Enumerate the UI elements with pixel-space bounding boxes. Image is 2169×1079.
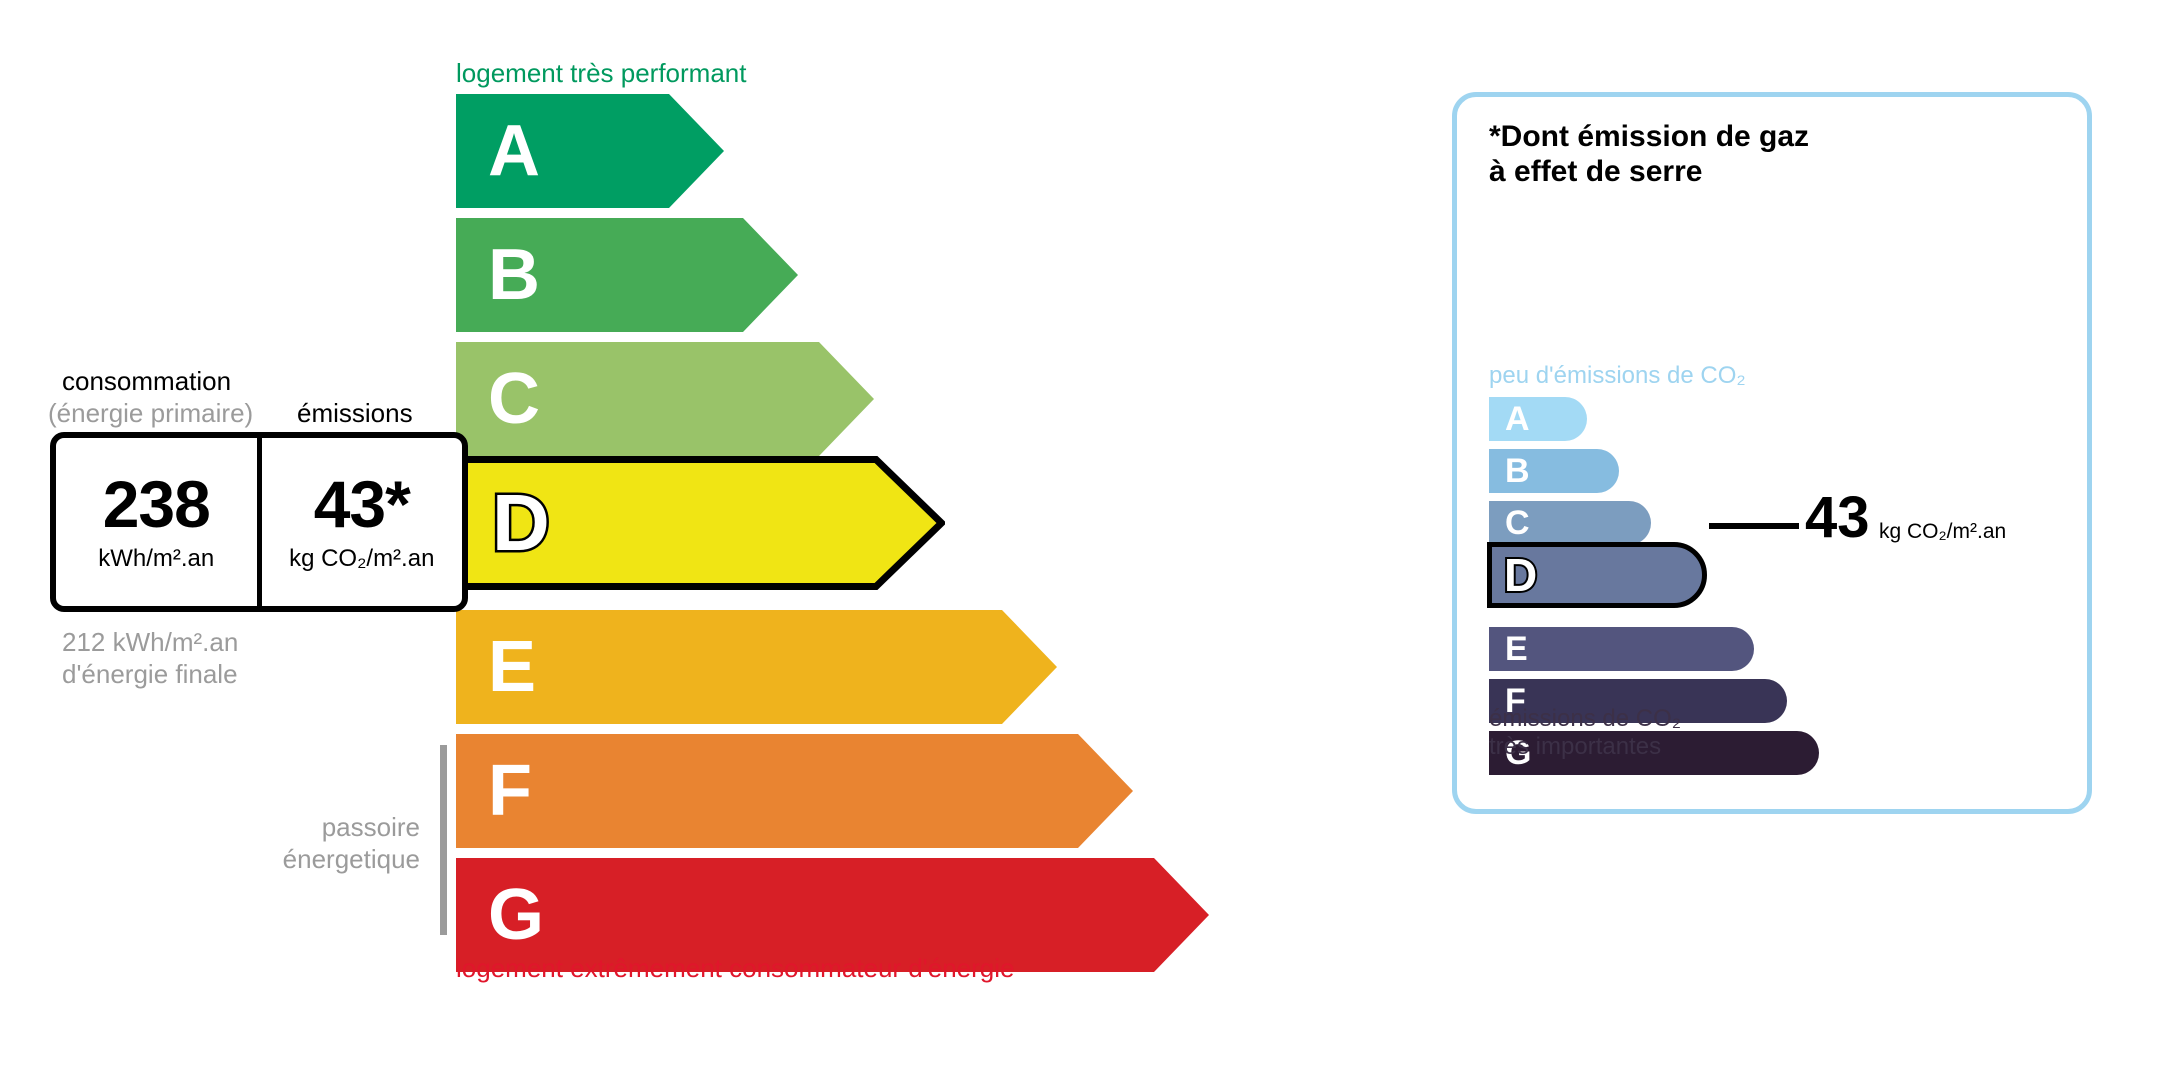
passoire-energetique-marker (440, 745, 447, 935)
chart-top-caption: logement très performant (456, 58, 746, 89)
co2-bar-letter-c: C (1505, 506, 1530, 540)
co2-bar-letter-e: E (1505, 632, 1528, 666)
emission-cell: 43* kg CO₂/m².an (257, 438, 463, 606)
co2-leader-line (1709, 523, 1799, 529)
energy-band-letter-g: G (488, 879, 544, 951)
energy-performance-chart: logement très performant ABCDEFG logemen… (0, 0, 1300, 1079)
co2-bar-b: B (1489, 449, 1619, 493)
passoire-label-line1: passoire (180, 812, 420, 843)
co2-top-caption: peu d'émissions de CO₂ (1489, 362, 1746, 390)
energy-band-letter-b: B (488, 239, 540, 311)
chart-bottom-caption: logement extrêmement consommateur d'éner… (456, 953, 1014, 984)
energy-band-c: C (456, 342, 874, 456)
energy-band-letter-a: A (488, 115, 540, 187)
energy-band-arrow-e (456, 610, 1057, 724)
co2-value-unit: kg CO₂/m².an (1879, 521, 2006, 542)
co2-bar-e: E (1489, 627, 1754, 671)
energy-band-letter-e: E (488, 631, 536, 703)
consumption-label: consommation (62, 366, 231, 397)
co2-panel-title: *Dont émission de gaz à effet de serre (1489, 119, 1809, 190)
co2-bar-d: D (1487, 542, 1707, 608)
energy-band-letter-c: C (488, 363, 540, 435)
consumption-unit: kWh/m².an (98, 545, 214, 573)
consumption-cell: 238 kWh/m².an (56, 438, 257, 606)
energy-band-letter-f: F (488, 755, 532, 827)
co2-bar-letter-a: A (1505, 402, 1530, 436)
final-energy-line2: d'énergie finale (62, 659, 238, 690)
co2-bar-letter-d: D (1504, 552, 1537, 598)
co2-value: 43 (1805, 489, 1870, 547)
energy-band-letter-d: D (492, 483, 550, 563)
emission-unit: kg CO₂/m².an (289, 545, 434, 573)
consumption-sublabel: (énergie primaire) (48, 398, 253, 429)
value-box: 238 kWh/m².an 43* kg CO₂/m².an (50, 432, 468, 612)
energy-band-b: B (456, 218, 798, 332)
co2-bar-letter-b: B (1505, 454, 1530, 488)
final-energy-line1: 212 kWh/m².an (62, 627, 238, 658)
energy-band-f: F (456, 734, 1133, 848)
emissions-label: émissions (297, 398, 413, 429)
consumption-value: 238 (103, 471, 210, 537)
co2-emissions-panel: *Dont émission de gaz à effet de serre p… (1452, 92, 2092, 814)
co2-bar-a: A (1489, 397, 1587, 441)
energy-band-d: D (456, 456, 945, 590)
energy-band-arrow-f (456, 734, 1133, 848)
co2-bottom-caption: émissions de CO₂ très importantes (1489, 705, 1681, 762)
energy-band-a: A (456, 94, 724, 208)
dpe-label: logement très performant ABCDEFG logemen… (0, 0, 2169, 1079)
emission-value: 43* (314, 471, 410, 537)
energy-band-e: E (456, 610, 1057, 724)
co2-bar-c: C (1489, 501, 1651, 545)
passoire-label-line2: énergetique (180, 844, 420, 875)
